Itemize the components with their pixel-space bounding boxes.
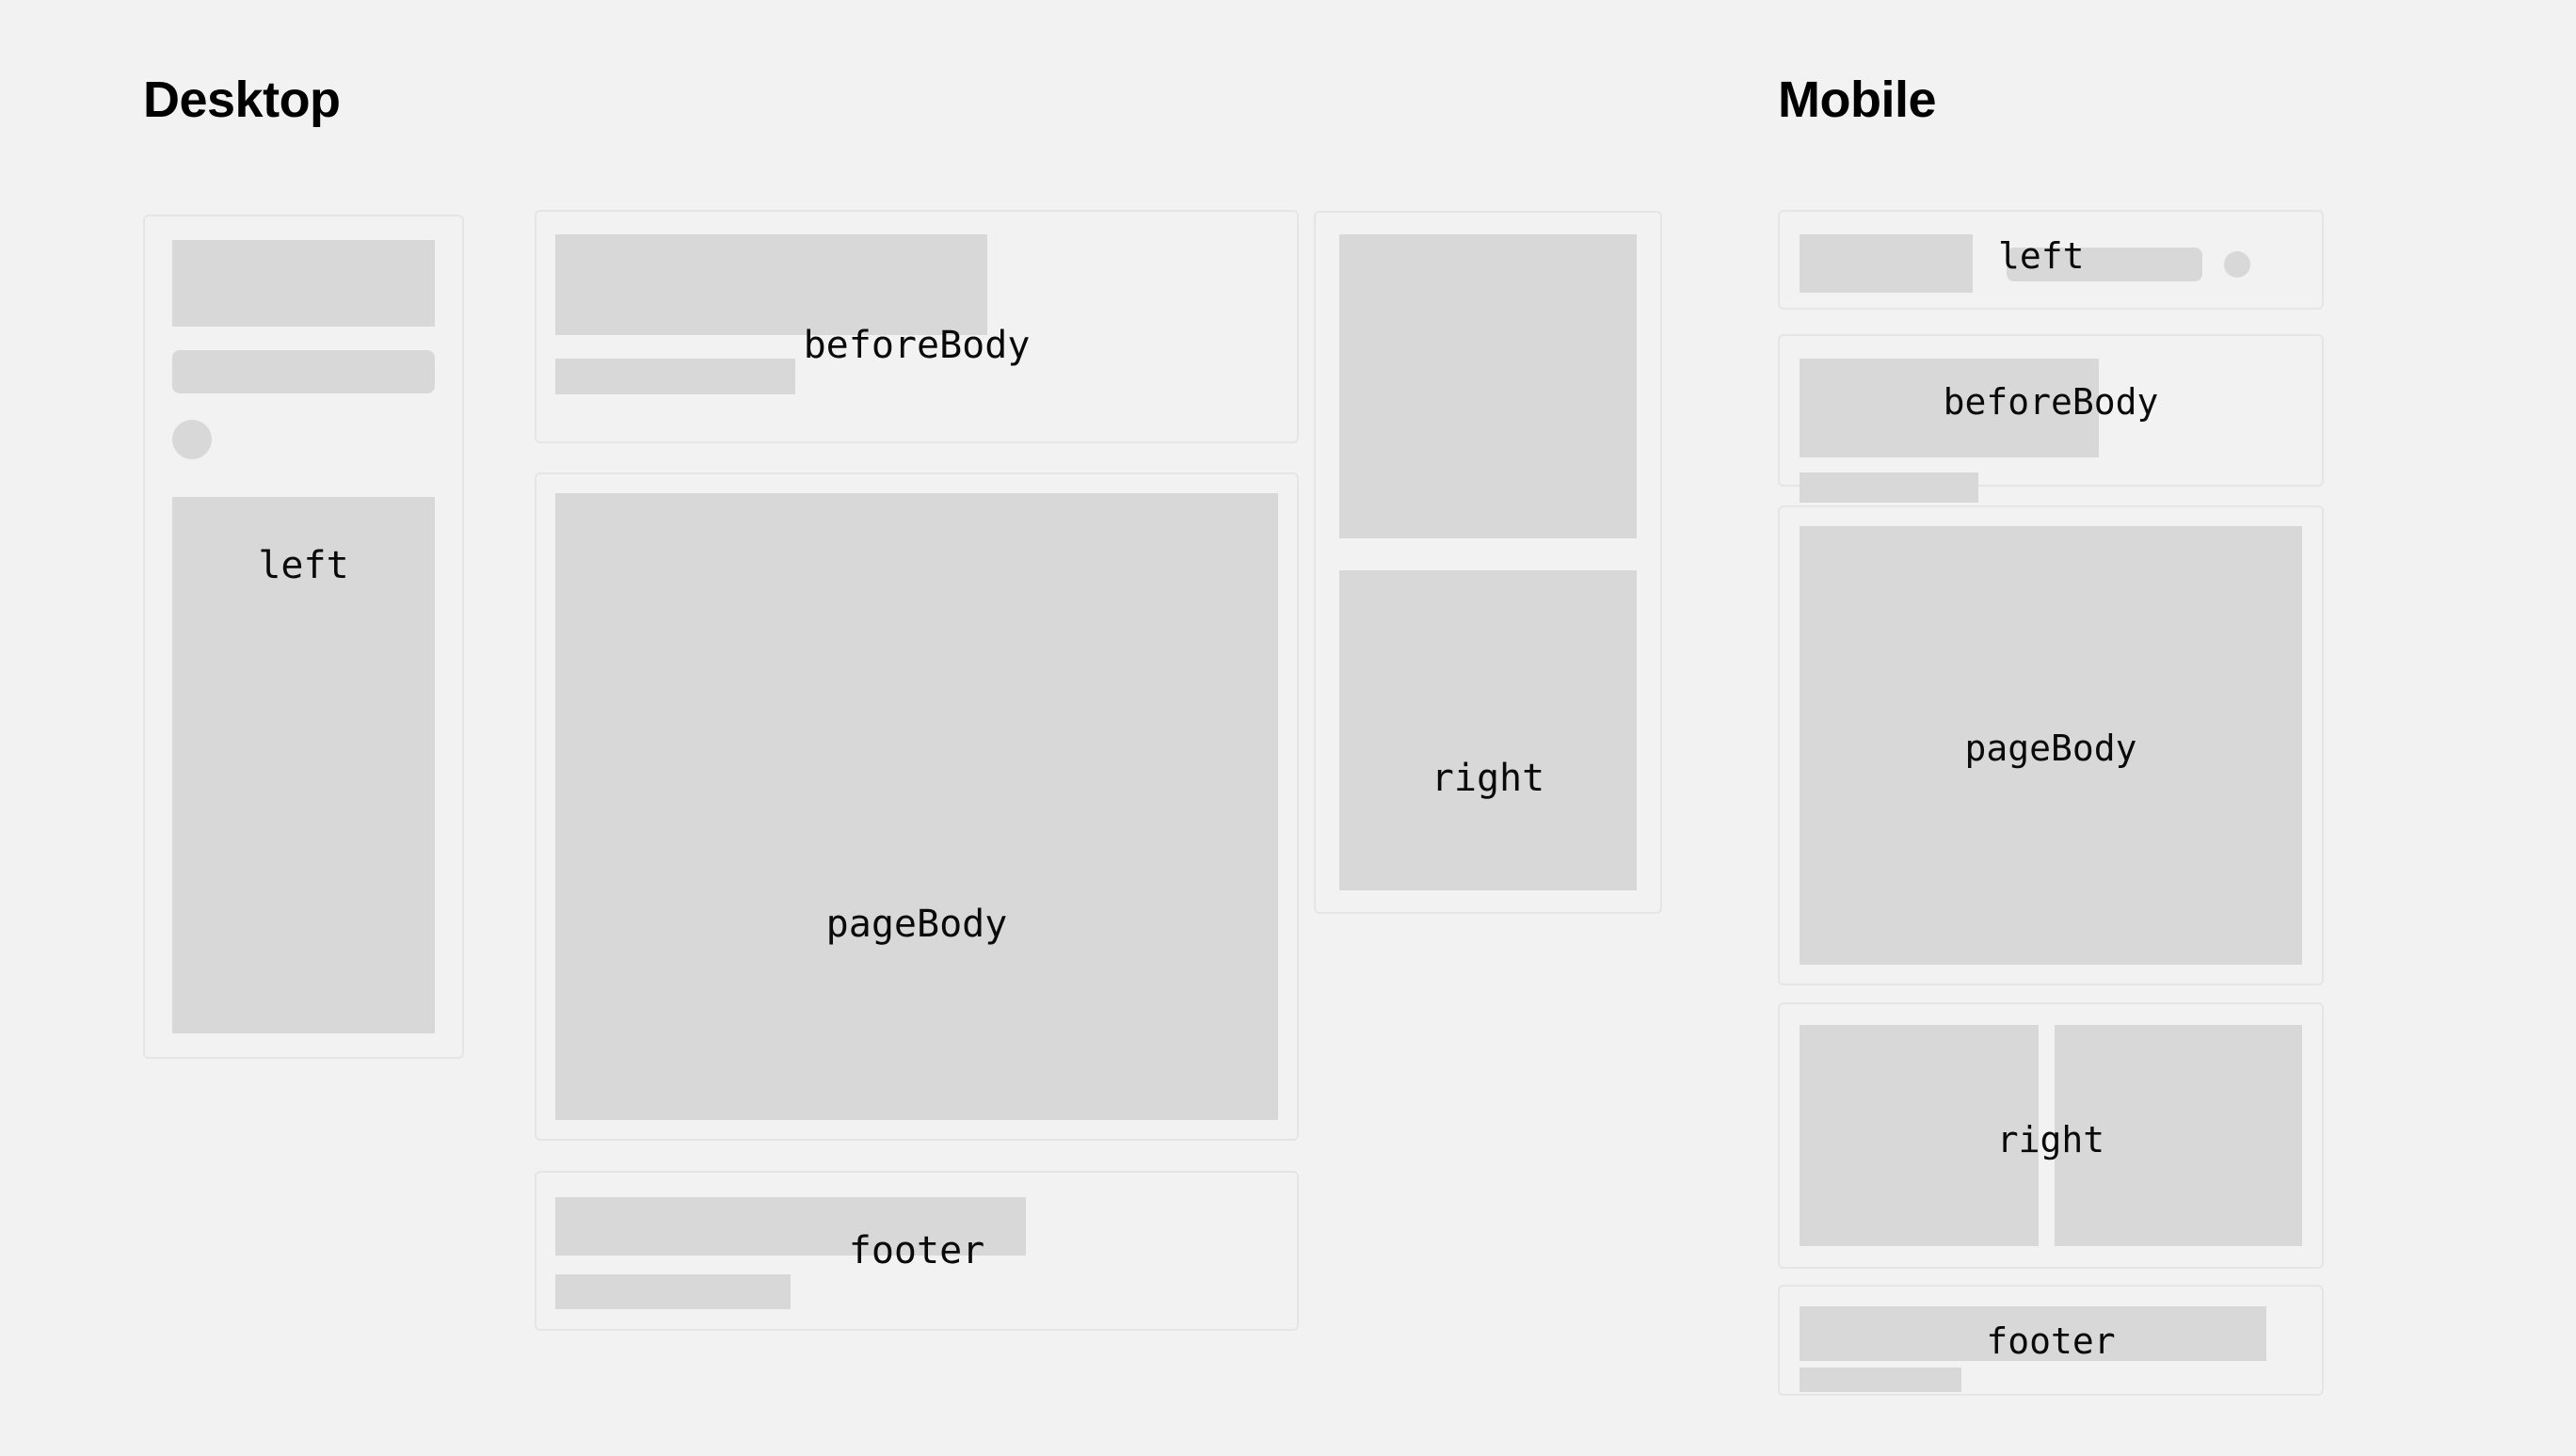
desktop-right-slot-panel[interactable]: right <box>1314 211 1662 914</box>
skeleton-block-rect <box>555 234 987 335</box>
skeleton-block-circle <box>2224 251 2250 278</box>
desktop-section-title: Desktop <box>143 71 341 129</box>
skeleton-block-bar <box>1800 472 1978 503</box>
skeleton-block-pill <box>2007 248 2202 281</box>
skeleton-block-rect <box>555 1197 1026 1256</box>
skeleton-block-bar <box>555 1274 791 1309</box>
skeleton-block-tall <box>172 497 435 1033</box>
mobile-left-slot-panel[interactable]: left <box>1778 210 2324 310</box>
desktop-left-slot-content <box>172 240 435 1033</box>
skeleton-block-rect <box>1800 1025 2039 1246</box>
skeleton-block-bar <box>1800 1368 1961 1392</box>
skeleton-block-circle <box>172 420 212 459</box>
skeleton-block-rect <box>1800 359 2099 457</box>
desktop-pagebody-slot-panel[interactable]: pageBody <box>535 472 1299 1141</box>
desktop-footer-slot-content <box>555 1197 1278 1306</box>
skeleton-block-rect <box>172 240 435 327</box>
skeleton-block-bar <box>555 359 795 394</box>
desktop-beforebody-slot-content <box>555 234 1278 421</box>
mobile-stack: left beforeBody pageBody right footer <box>1778 210 2324 1396</box>
skeleton-block-rect <box>1800 1306 2266 1361</box>
skeleton-block-fill <box>555 493 1278 1120</box>
skeleton-block-rect <box>1800 234 1973 293</box>
mobile-right-slot-panel[interactable]: right <box>1778 1002 2324 1269</box>
skeleton-block-rect <box>1339 570 1637 890</box>
mobile-pagebody-slot-panel[interactable]: pageBody <box>1778 505 2324 985</box>
skeleton-block-rect <box>1339 234 1637 538</box>
mobile-beforebody-slot-panel[interactable]: beforeBody <box>1778 334 2324 487</box>
mobile-section-title: Mobile <box>1778 71 1936 129</box>
mobile-footer-slot-panel[interactable]: footer <box>1778 1285 2324 1396</box>
desktop-footer-slot-panel[interactable]: footer <box>535 1171 1299 1331</box>
desktop-left-slot-panel[interactable]: left <box>143 215 464 1059</box>
skeleton-block-fill <box>1800 526 2302 965</box>
skeleton-block-rect <box>2055 1025 2302 1246</box>
desktop-beforebody-slot-panel[interactable]: beforeBody <box>535 210 1299 443</box>
skeleton-block-pill <box>172 350 435 393</box>
